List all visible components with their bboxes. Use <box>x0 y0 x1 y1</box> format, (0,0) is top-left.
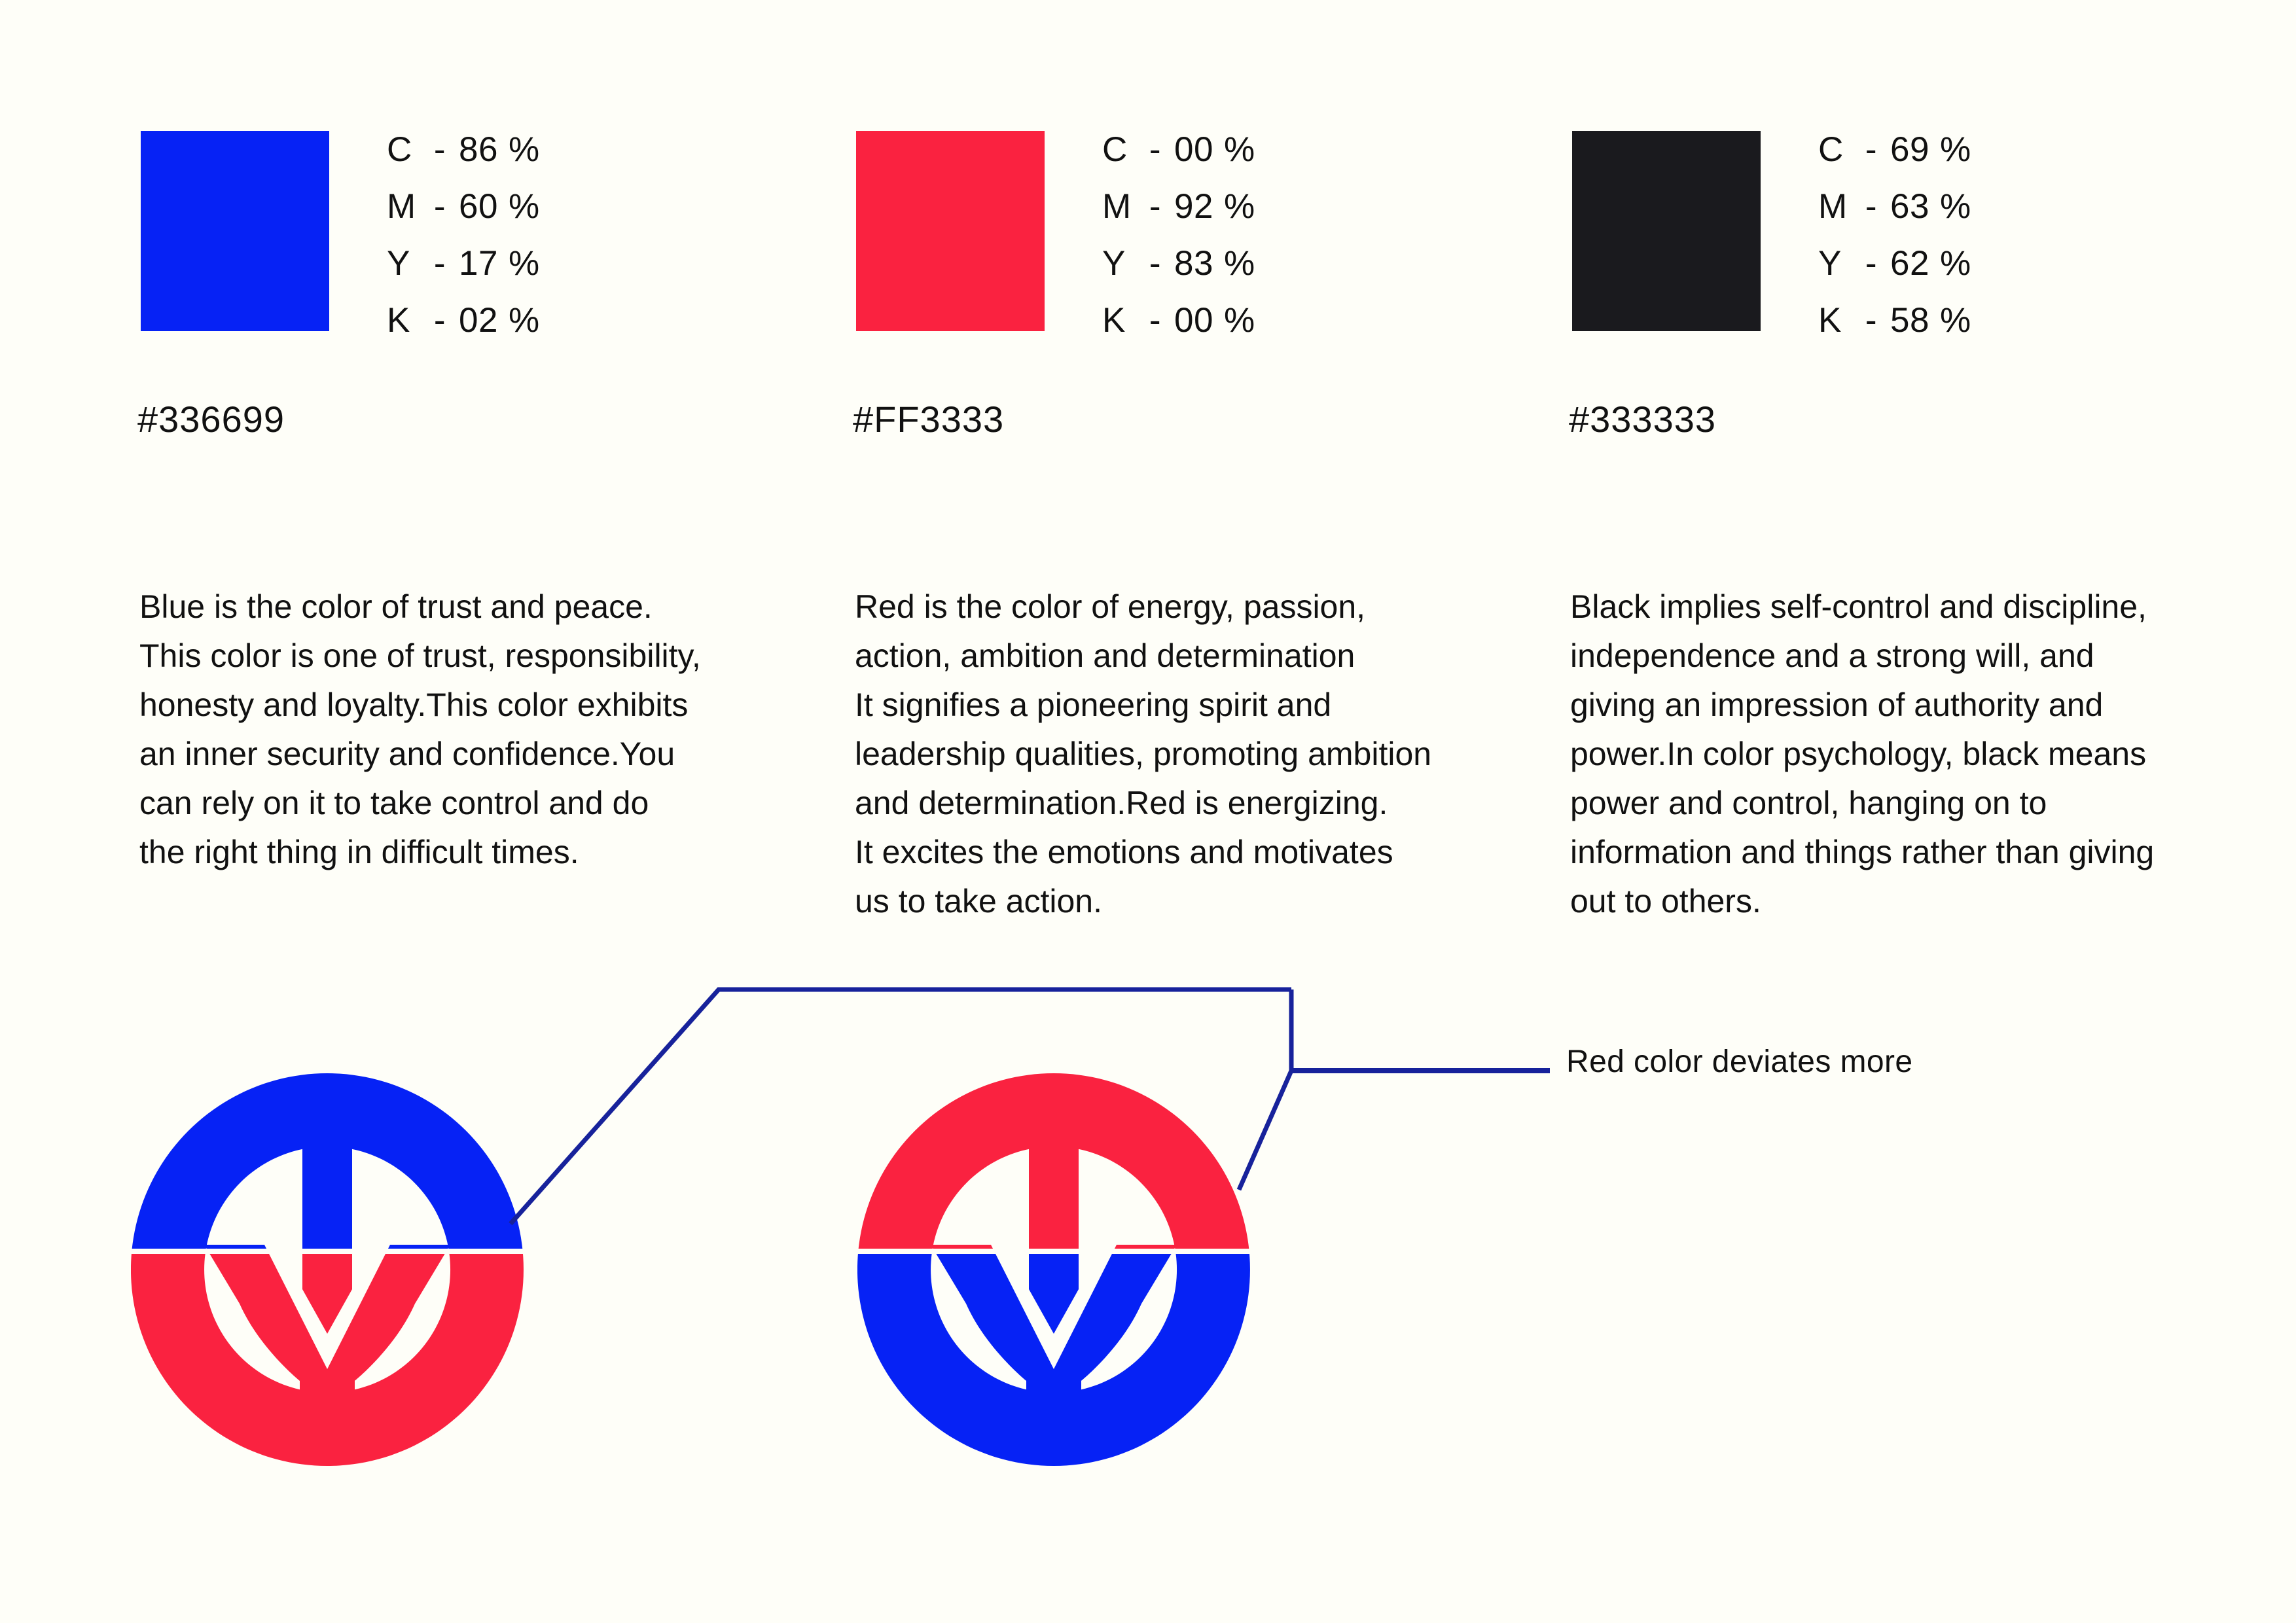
cmyk-dash: - <box>1136 246 1174 281</box>
cmyk-unit: % <box>1224 246 1255 281</box>
cmyk-line: Y - 83 % <box>1102 246 1255 281</box>
cmyk-key: Y <box>1102 246 1136 281</box>
cmyk-list: C - 86 % M - 60 % Y - 17 % <box>387 131 540 338</box>
cmyk-unit: % <box>509 303 540 338</box>
cmyk-key: K <box>387 303 421 338</box>
cmyk-key: Y <box>1818 246 1852 281</box>
cmyk-dash: - <box>1852 132 1890 167</box>
cmyk-unit: % <box>1224 303 1255 338</box>
cmyk-unit: % <box>1940 246 1971 281</box>
color-swatch <box>856 131 1045 331</box>
cmyk-key: Y <box>387 246 421 281</box>
cmyk-dash: - <box>421 246 459 281</box>
cmyk-unit: % <box>1224 189 1255 224</box>
color-description: Blue is the color of trust and peace. Th… <box>139 582 728 877</box>
color-description: Black implies self-control and disciplin… <box>1570 582 2225 926</box>
color-description: Red is the color of energy, passion, act… <box>855 582 1483 926</box>
cmyk-unit: % <box>1940 303 1971 338</box>
swatch-row: C - 00 % M - 92 % Y - 83 % <box>856 131 1255 338</box>
cmyk-unit: % <box>509 189 540 224</box>
cmyk-line: Y - 62 % <box>1818 246 1971 281</box>
hex-label: #FF3333 <box>853 398 1004 440</box>
cmyk-line: K - 58 % <box>1818 303 1971 338</box>
cmyk-value: 00 <box>1174 303 1213 338</box>
annotation-label: Red color deviates more <box>1566 1044 1912 1080</box>
cmyk-key: M <box>387 189 421 224</box>
cmyk-unit: % <box>509 246 540 281</box>
cmyk-dash: - <box>1136 132 1174 167</box>
color-swatch <box>1572 131 1761 331</box>
cmyk-line: K - 02 % <box>387 303 540 338</box>
cmyk-key: K <box>1818 303 1852 338</box>
hex-label: #333333 <box>1569 398 1716 440</box>
palette-column-black: C - 69 % M - 63 % Y - 62 % <box>1572 131 1971 338</box>
page-canvas: C - 86 % M - 60 % Y - 17 % <box>0 0 2296 1623</box>
cmyk-dash: - <box>1852 189 1890 224</box>
cmyk-value: 83 <box>1174 246 1213 281</box>
cmyk-unit: % <box>509 132 540 167</box>
cmyk-value: 62 <box>1890 246 1929 281</box>
cmyk-unit: % <box>1224 132 1255 167</box>
cmyk-unit: % <box>1940 189 1971 224</box>
cmyk-value: 69 <box>1890 132 1929 167</box>
cmyk-value: 02 <box>459 303 498 338</box>
cmyk-value: 00 <box>1174 132 1213 167</box>
cmyk-line: Y - 17 % <box>387 246 540 281</box>
palette-column-blue: C - 86 % M - 60 % Y - 17 % <box>141 131 540 338</box>
cmyk-value: 63 <box>1890 189 1929 224</box>
cmyk-line: K - 00 % <box>1102 303 1255 338</box>
cmyk-list: C - 00 % M - 92 % Y - 83 % <box>1102 131 1255 338</box>
cmyk-key: C <box>1102 132 1136 167</box>
cmyk-key: K <box>1102 303 1136 338</box>
cmyk-line: C - 86 % <box>387 132 540 167</box>
cmyk-key: M <box>1818 189 1852 224</box>
cmyk-key: C <box>1818 132 1852 167</box>
cmyk-dash: - <box>1136 303 1174 338</box>
swatch-row: C - 69 % M - 63 % Y - 62 % <box>1572 131 1971 338</box>
cmyk-dash: - <box>1136 189 1174 224</box>
cmyk-key: C <box>387 132 421 167</box>
cmyk-value: 60 <box>459 189 498 224</box>
cmyk-dash: - <box>421 132 459 167</box>
cmyk-unit: % <box>1940 132 1971 167</box>
brand-logo-variant-1 <box>131 1073 524 1466</box>
palette-column-red: C - 00 % M - 92 % Y - 83 % <box>856 131 1255 338</box>
cmyk-line: C - 00 % <box>1102 132 1255 167</box>
cmyk-dash: - <box>1852 246 1890 281</box>
cmyk-value: 92 <box>1174 189 1213 224</box>
cmyk-value: 17 <box>459 246 498 281</box>
cmyk-list: C - 69 % M - 63 % Y - 62 % <box>1818 131 1971 338</box>
brand-logo-variant-2 <box>857 1073 1250 1466</box>
swatch-row: C - 86 % M - 60 % Y - 17 % <box>141 131 540 338</box>
cmyk-value: 86 <box>459 132 498 167</box>
color-swatch <box>141 131 329 331</box>
cmyk-key: M <box>1102 189 1136 224</box>
hex-label: #336699 <box>137 398 285 440</box>
cmyk-value: 58 <box>1890 303 1929 338</box>
cmyk-dash: - <box>1852 303 1890 338</box>
cmyk-line: M - 60 % <box>387 189 540 224</box>
cmyk-dash: - <box>421 303 459 338</box>
cmyk-line: M - 92 % <box>1102 189 1255 224</box>
cmyk-line: M - 63 % <box>1818 189 1971 224</box>
cmyk-dash: - <box>421 189 459 224</box>
cmyk-line: C - 69 % <box>1818 132 1971 167</box>
